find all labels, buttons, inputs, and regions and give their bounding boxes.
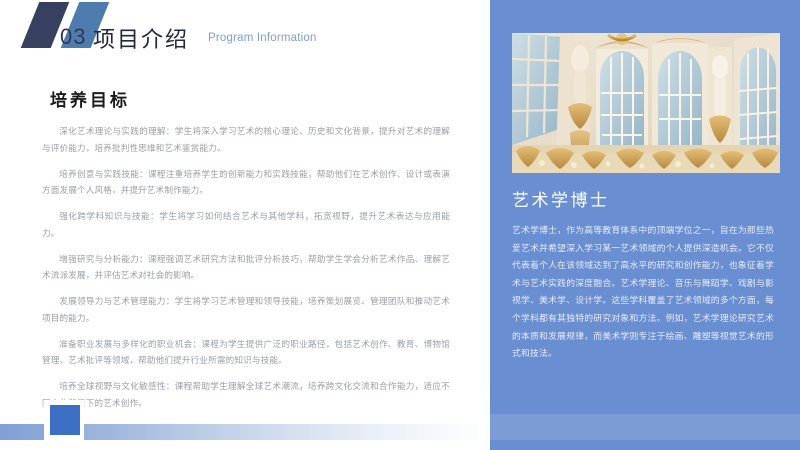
slide-header: 03 项目介绍 Program Information [0, 0, 490, 68]
baroque-palace-interior-photo [512, 33, 780, 173]
paragraph: 强化跨学科知识与技能：学生将学习如何结合艺术与其他学科，拓宽视野，提升艺术表达与… [42, 208, 450, 242]
section-number: 03 [60, 24, 86, 50]
paragraph: 发展领导力与艺术管理能力：学生将学习艺术管理和领导技能，培养策划展览、管理团队和… [42, 293, 450, 327]
paragraph: 增强研究与分析能力：课程强调艺术研究方法和批评分析技巧，帮助学生学会分析艺术作品… [42, 251, 450, 285]
right-panel-title: 艺术学博士 [512, 186, 610, 211]
right-panel-bottom-bar [490, 414, 800, 440]
right-blue-panel: 艺术学博士 艺术学博士，作为高等教育体系中的顶端学位之一，旨在为那些热爱艺术并希… [490, 0, 800, 450]
decor-square-blue [50, 405, 80, 435]
paragraph: 准备职业发展与多样化的职业机会：课程为学生提供广泛的职业路径，包括艺术创作、教育… [42, 336, 450, 370]
paragraph: 深化艺术理论与实践的理解：学生将深入学习艺术的核心理论、历史和文化背景，提升对艺… [42, 123, 450, 157]
left-content: 培养目标 深化艺术理论与实践的理解：学生将深入学习艺术的核心理论、历史和文化背景… [0, 68, 490, 406]
photo-illustration [512, 33, 780, 173]
section-title-cn: 项目介绍 [93, 22, 189, 54]
section-title-en: Program Information [208, 32, 317, 44]
paragraph: 培养创意与实践技能：课程注重培养学生的创新能力和实践技能，帮助他们在艺术创作、设… [42, 166, 450, 200]
right-panel-body: 艺术学博士，作为高等教育体系中的顶端学位之一，旨在为那些热爱艺术并希望深入学习某… [512, 222, 774, 363]
paragraph: 培养全球视野与文化敏感性：课程帮助学生理解全球艺术潮流，培养跨文化交流和合作能力… [42, 378, 450, 412]
page-title: 培养目标 [50, 86, 130, 111]
slide: 03 项目介绍 Program Information 培养目标 深化艺术理论与… [0, 0, 800, 450]
paragraph-list: 深化艺术理论与实践的理解：学生将深入学习艺术的核心理论、历史和文化背景，提升对艺… [42, 123, 450, 421]
